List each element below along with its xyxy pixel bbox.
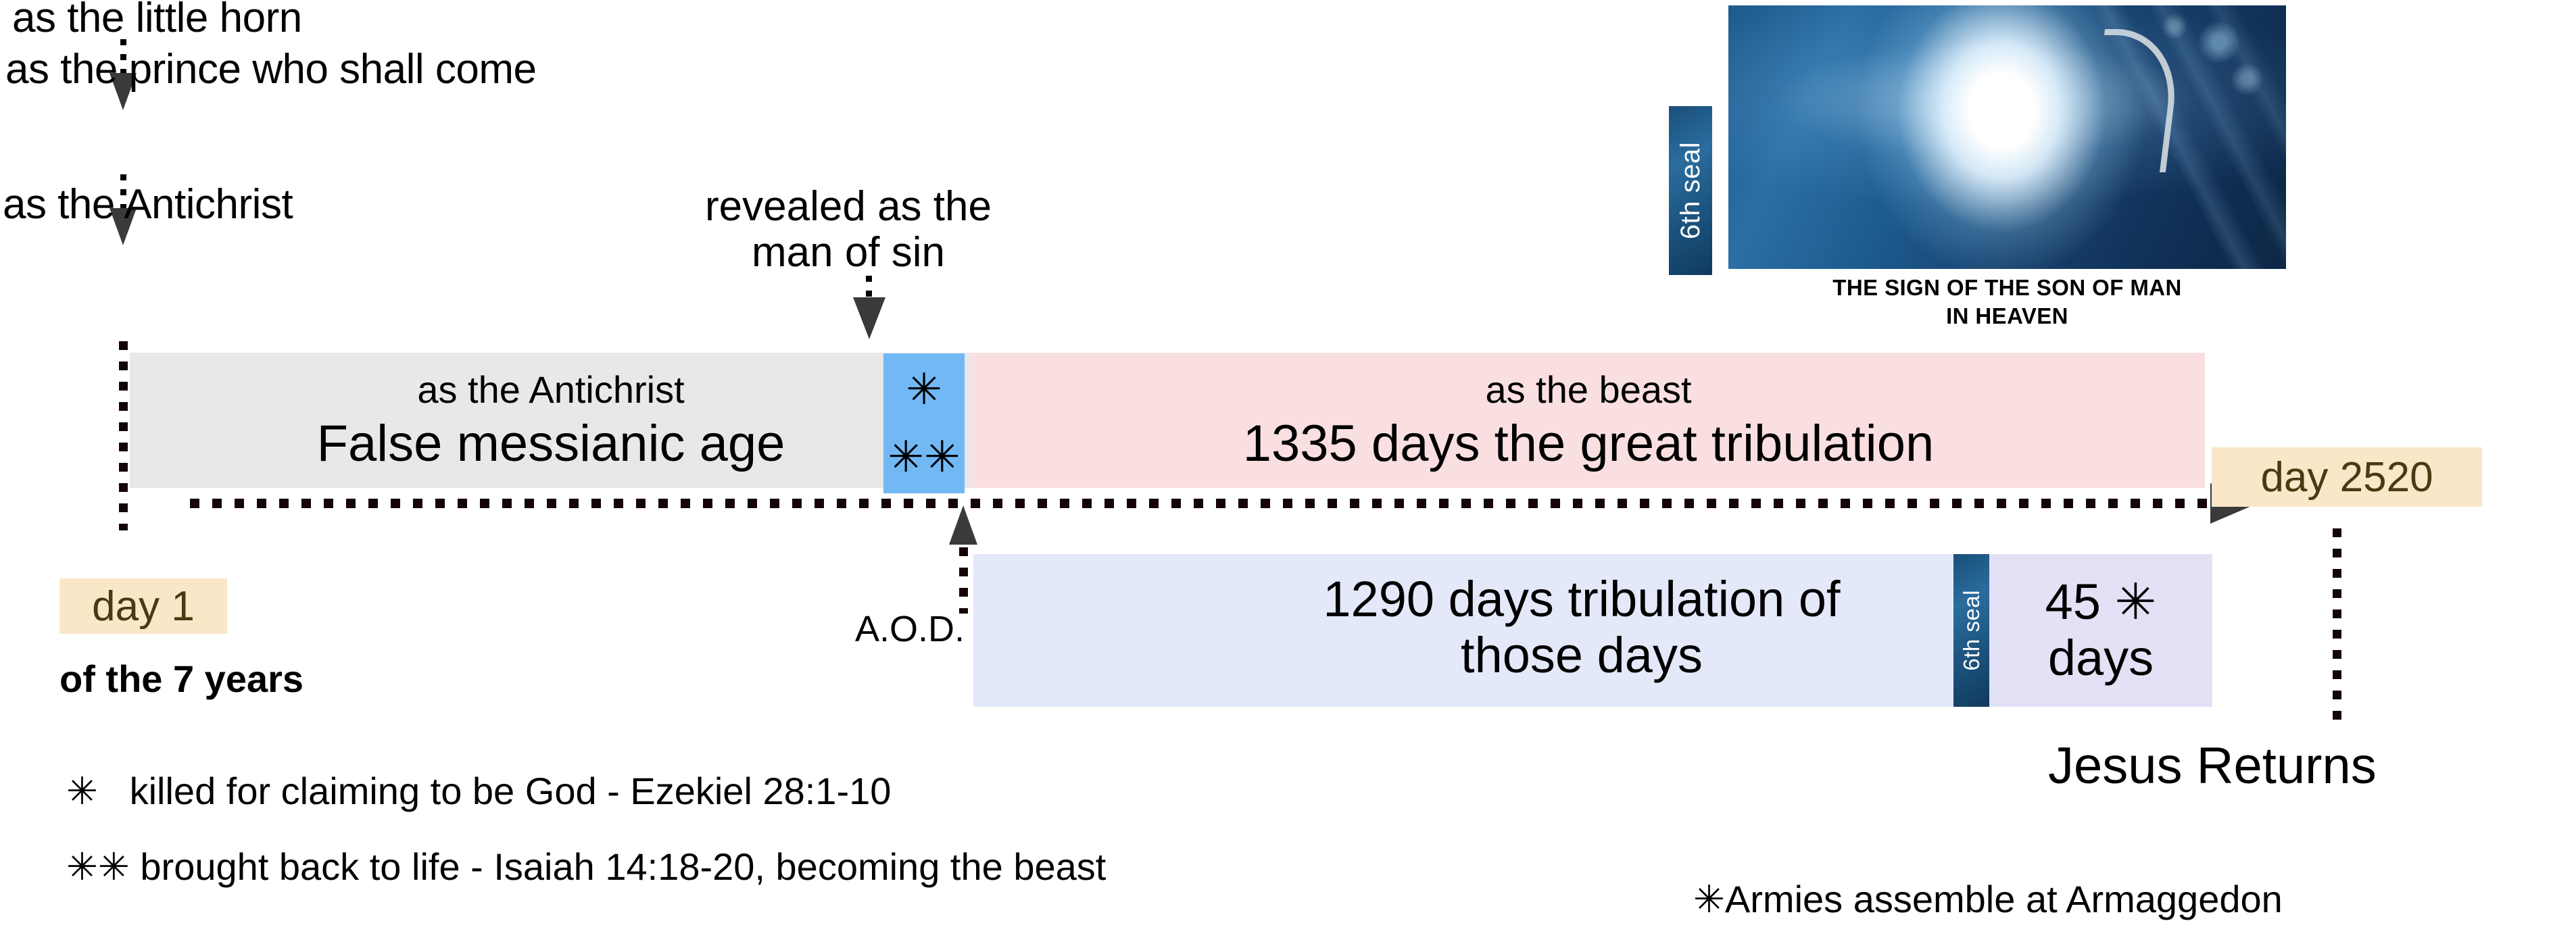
aod-arrow-icon [949,505,977,545]
callout-revealed-as-man-of-sin: revealed as the man of sin [666,184,1031,276]
footnote-double-asterisk: ✳✳ brought back to life - Isaiah 14:18-2… [66,845,1106,889]
sign-of-son-of-man-image [1728,5,2286,269]
bar-segment-45-days: 45 ✳ days [1989,554,2212,707]
bar-main-label-false-messianic-age: False messianic age [317,414,785,473]
bar-sub-label-as-the-beast: as the beast [1485,368,1691,412]
bar-label-1290-days-line-1: 1290 days tribulation of [1176,572,1987,628]
slide-canvas: as the little horn as the prince who sha… [0,0,2576,946]
sixth-seal-strip-timeline: 6th seal [1953,554,1989,707]
marker-double-asterisk: ✳✳ [888,424,960,491]
bar-label-1290-days-line-2: those days [1176,628,1987,684]
footnote-armageddon: ✳Armies assemble at Armaggedon [1693,877,2283,922]
sixth-seal-strip-picture: 6th seal [1669,106,1712,275]
aod-vertical-guide [959,547,968,614]
bar-label-45-days-line-1: 45 ✳ [2045,574,2157,630]
marker-single-asterisk: ✳ [906,356,942,423]
sixth-seal-strip-label: 6th seal [1676,142,1706,239]
bar-sub-label-as-the-antichrist: as the Antichrist [417,368,684,412]
label-of-the-7-years: of the 7 years [59,657,303,701]
bar-segment-great-tribulation: as the beast 1335 days the great tribula… [972,353,2205,488]
callout-line-2: man of sin [666,230,1031,276]
bar-segment-1290-days: 1290 days tribulation of those days [973,554,1996,707]
hook-shape-icon [2087,29,2183,172]
day1-vertical-guide [119,341,128,530]
bar-segment-false-messianic-age: as the Antichrist False messianic age [130,353,972,488]
picture-caption: THE SIGN OF THE SON OF MAN IN HEAVEN [1728,274,2286,330]
chain-label-little-horn: as the little horn [12,0,302,41]
picture-caption-line-2: IN HEAVEN [1728,302,2286,330]
timeline-dotted-axis [190,499,2222,508]
bar-label-1290-days-wrapper: 1290 days tribulation of those days [1176,572,1987,684]
jesus-returns-vertical-guide [2333,528,2341,722]
picture-caption-line-1: THE SIGN OF THE SON OF MAN [1728,274,2286,302]
marker-box-asterisks: ✳ ✳✳ [883,353,965,493]
bar-main-label-1335-days: 1335 days the great tribulation [1243,414,1934,473]
label-jesus-returns: Jesus Returns [2048,737,2377,795]
callout-line-1: revealed as the [666,184,1031,230]
badge-day-2520: day 2520 [2212,447,2482,507]
bar-label-45-days-wrapper: 45 ✳ days [2045,574,2157,687]
bar-label-45-days-line-2: days [2045,630,2157,687]
chain-label-prince: as the prince who shall come [5,46,537,93]
sixth-seal-timeline-label: 6th seal [1959,590,1985,671]
badge-day-1: day 1 [59,578,227,634]
chain-label-antichrist: as the Antichrist [3,181,293,228]
callout-arrow-icon [853,297,885,339]
footnote-single-asterisk: ✳ killed for claiming to be God - Ezekie… [66,769,891,814]
